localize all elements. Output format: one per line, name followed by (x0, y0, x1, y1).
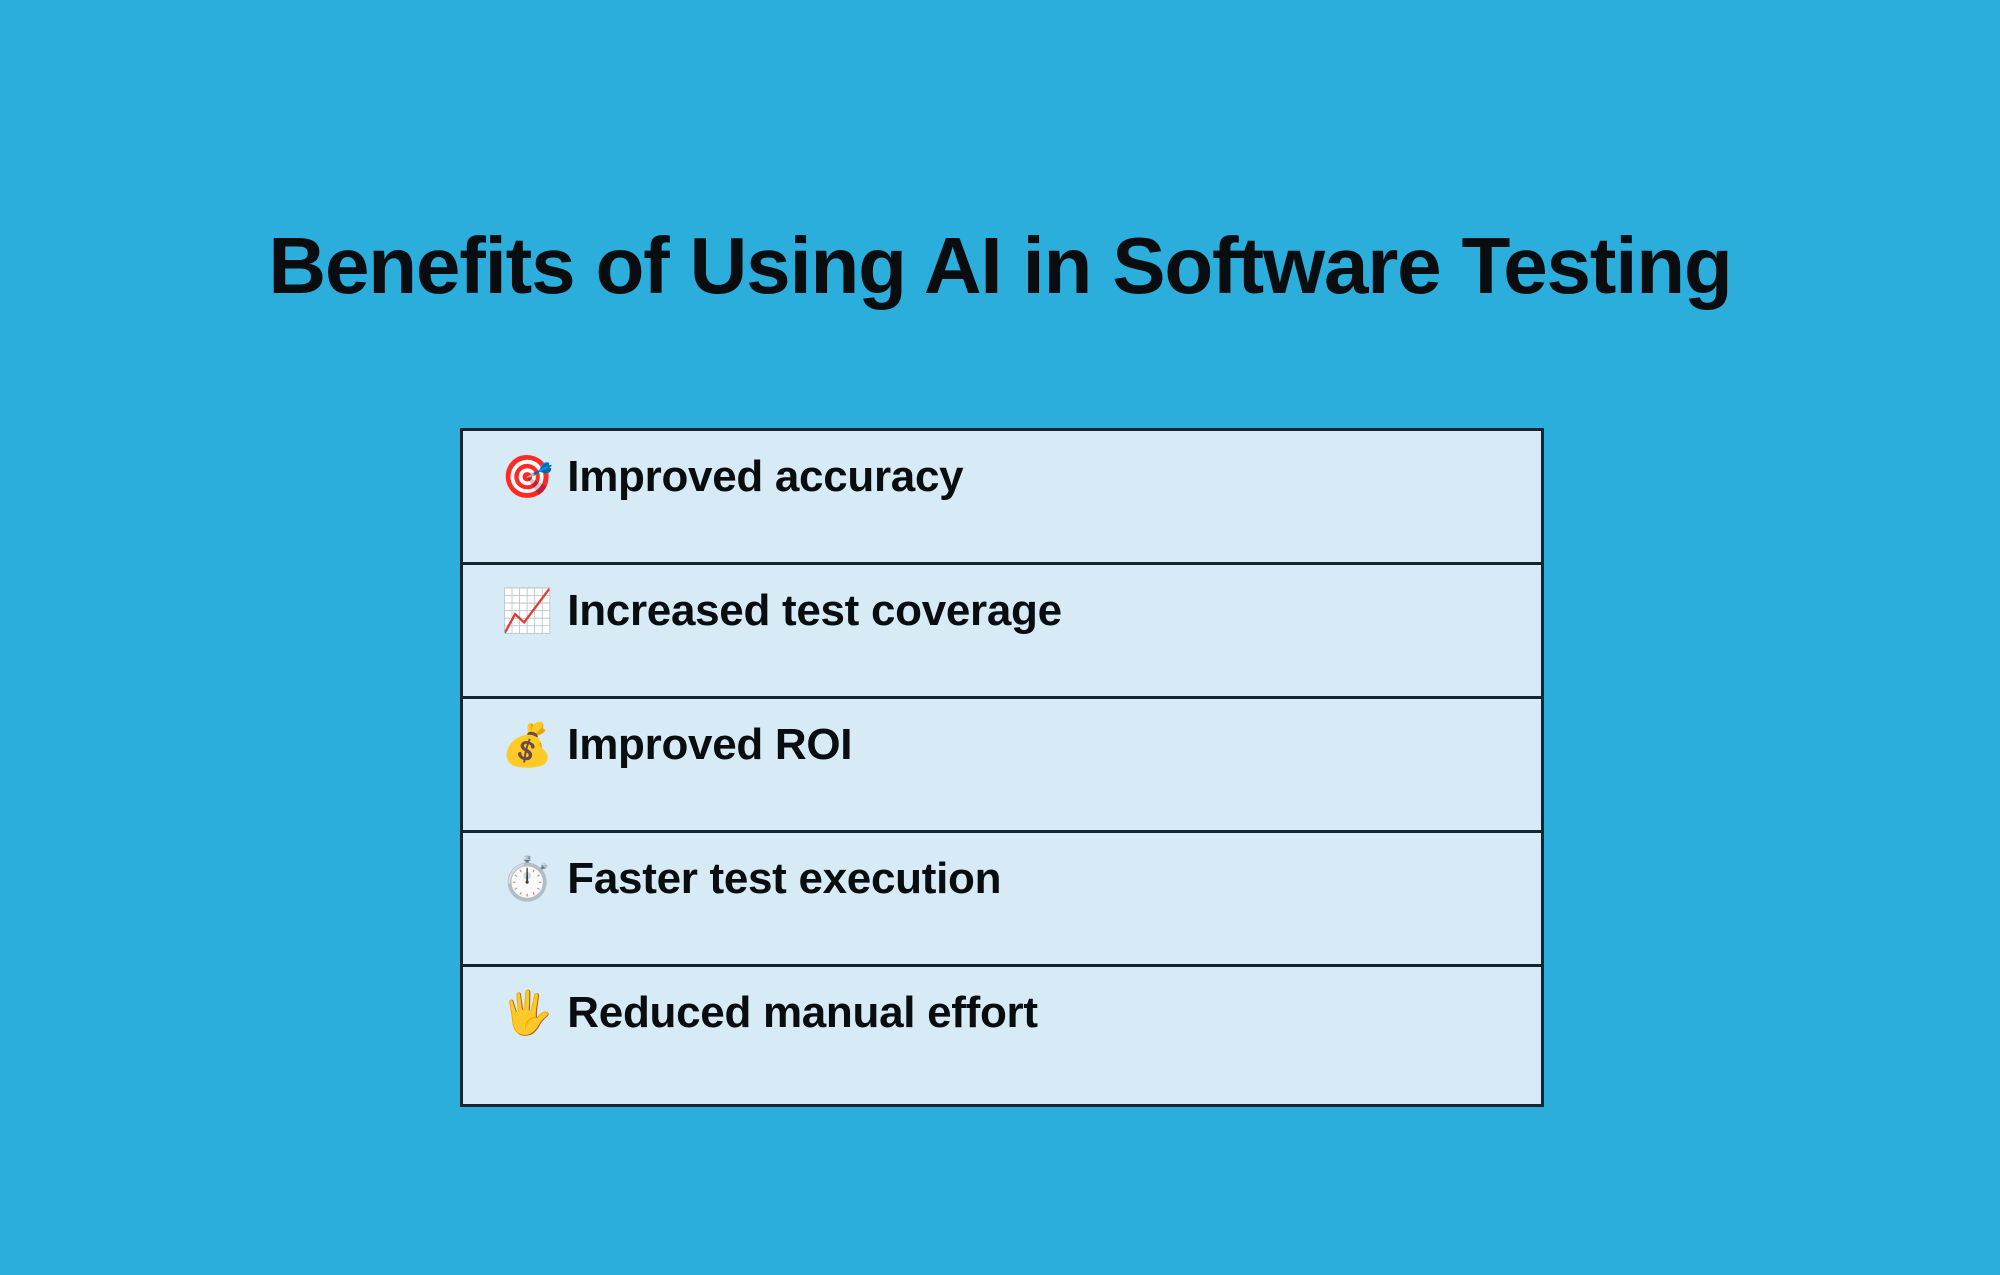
raised-hand-icon: 🖐️ (501, 985, 553, 1041)
table-row: 💰 Improved ROI (463, 699, 1541, 833)
target-dart-icon: 🎯 (501, 449, 553, 505)
benefits-table: 🎯 Improved accuracy 📈 Increased test cov… (460, 428, 1544, 1107)
table-row: 📈 Increased test coverage (463, 565, 1541, 699)
table-row: 🖐️ Reduced manual effort (463, 967, 1541, 1104)
table-row: ⏱️ Faster test execution (463, 833, 1541, 967)
benefit-label: Faster test execution (567, 851, 1001, 907)
money-bag-icon: 💰 (501, 717, 553, 773)
benefit-label: Reduced manual effort (567, 985, 1037, 1041)
benefit-label: Improved accuracy (567, 449, 963, 505)
chart-increasing-icon: 📈 (501, 583, 553, 639)
benefit-label: Improved ROI (567, 717, 852, 773)
stopwatch-icon: ⏱️ (501, 851, 553, 907)
page-title: Benefits of Using AI in Software Testing (0, 226, 2000, 306)
table-row: 🎯 Improved accuracy (463, 431, 1541, 565)
slide-canvas: Benefits of Using AI in Software Testing… (0, 0, 2000, 1275)
benefit-label: Increased test coverage (567, 583, 1061, 639)
